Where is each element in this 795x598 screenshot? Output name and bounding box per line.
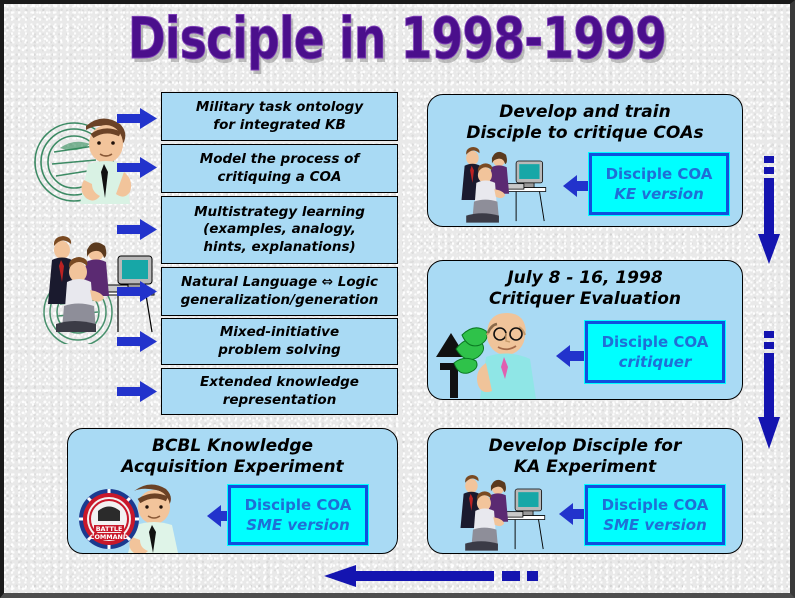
panel-develop-train[interactable]: Develop and train Disciple to critique C… xyxy=(427,94,743,227)
coa-line-2: SME version xyxy=(246,515,350,535)
down-arrow-dashed-1 xyxy=(756,156,782,266)
coa-line-2: SME version xyxy=(603,515,707,535)
flow-arrow-right-2 xyxy=(117,157,157,178)
expert-with-money-icon xyxy=(434,311,549,399)
coa-line-2: critiquer xyxy=(619,352,692,372)
left-item-text-4: Natural Language ⇔ Logic generalization/… xyxy=(181,274,379,309)
panel-title-develop-train: Develop and train Disciple to critique C… xyxy=(428,102,742,145)
left-item-box-2[interactable]: Model the process of critiquing a COA xyxy=(161,144,398,193)
svg-text:COMMAND: COMMAND xyxy=(90,533,128,541)
left-item-text-3: Multistrategy learning (examples, analog… xyxy=(194,204,365,256)
flow-arrow-right-6 xyxy=(117,381,157,402)
coa-line-1: Disciple COA xyxy=(602,495,709,515)
coa-box-sme-version-bcbl[interactable]: Disciple COA SME version xyxy=(228,485,368,545)
down-arrow-dashed-2 xyxy=(756,331,782,451)
coa-box-critiquer[interactable]: Disciple COA critiquer xyxy=(585,321,725,383)
panel-title-bcbl: BCBL Knowledge Acquisition Experiment xyxy=(68,436,397,479)
left-item-box-5[interactable]: Mixed-initiative problem solving xyxy=(161,318,398,365)
panel-bcbl-ka-experiment[interactable]: BCBL Knowledge Acquisition Experiment xyxy=(67,428,398,554)
left-item-box-4[interactable]: Natural Language ⇔ Logic generalization/… xyxy=(161,267,398,316)
left-item-box-6[interactable]: Extended knowledge representation xyxy=(161,368,398,415)
flow-arrow-right-5 xyxy=(117,331,157,352)
flow-arrow-right-4 xyxy=(117,281,157,302)
left-item-text-1: Military task ontology for integrated KB xyxy=(196,99,363,134)
coa-line-1: Disciple COA xyxy=(602,332,709,352)
panel-title-develop-disciple-ka: Develop Disciple for KA Experiment xyxy=(428,436,742,479)
team-at-computer-icon xyxy=(438,475,554,553)
battle-command-seal-with-officer-icon: BATTLE COMMAND xyxy=(76,481,201,553)
coa-box-sme-version-ka[interactable]: Disciple COA SME version xyxy=(585,485,725,545)
left-item-text-2: Model the process of critiquing a COA xyxy=(200,151,359,186)
panel-critiquer-evaluation[interactable]: July 8 - 16, 1998 Critiquer Evaluation xyxy=(427,260,743,400)
flow-arrow-right-1 xyxy=(117,108,157,129)
left-item-text-5: Mixed-initiative problem solving xyxy=(218,324,340,359)
left-item-text-6: Extended knowledge representation xyxy=(200,374,359,409)
panel-develop-disciple-ka[interactable]: Develop Disciple for KA Experiment xyxy=(427,428,743,554)
team-at-computer-icon xyxy=(438,147,556,225)
flow-arrow-right-3 xyxy=(117,219,157,240)
left-arrow-dashed xyxy=(104,565,544,587)
slide: Disciple in 1998-1999 xyxy=(0,0,795,598)
page-title: Disciple in 1998-1999 xyxy=(83,11,712,68)
coa-box-ke-version[interactable]: Disciple COA KE version xyxy=(589,153,729,215)
coa-line-2: KE version xyxy=(614,184,704,204)
panel-title-critiquer-evaluation: July 8 - 16, 1998 Critiquer Evaluation xyxy=(428,268,742,311)
left-item-box-1[interactable]: Military task ontology for integrated KB xyxy=(161,92,398,141)
svg-text:BATTLE: BATTLE xyxy=(96,525,123,533)
coa-line-1: Disciple COA xyxy=(606,164,713,184)
left-item-box-3[interactable]: Multistrategy learning (examples, analog… xyxy=(161,196,398,264)
coa-line-1: Disciple COA xyxy=(245,495,352,515)
